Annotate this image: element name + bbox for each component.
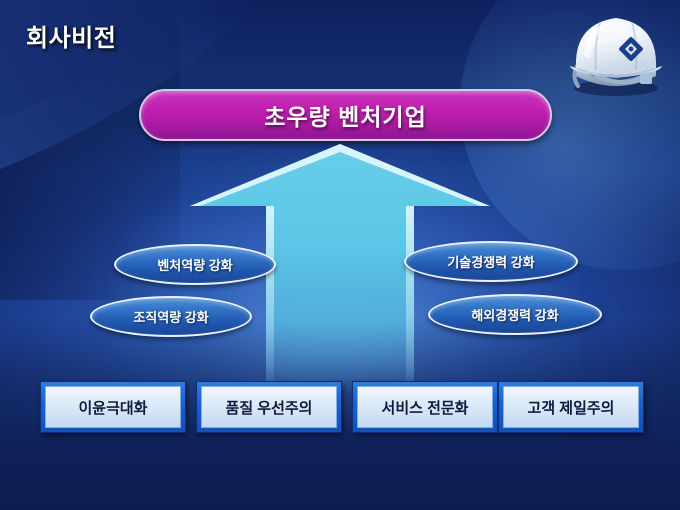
vision-banner-label: 초우량 벤처기업 bbox=[264, 98, 427, 132]
vision-banner[interactable]: 초우량 벤처기업 bbox=[139, 89, 552, 141]
pillar-ellipse-overseas-competitiveness[interactable]: 해외경쟁력 강화 bbox=[428, 294, 602, 335]
foundation-box-profit-maximization[interactable]: 이윤극대화 bbox=[40, 381, 186, 433]
pillar-ellipse-venture-capability[interactable]: 벤처역량 강화 bbox=[114, 244, 276, 285]
foundation-box-panel: 고객 제일주의 bbox=[503, 386, 639, 428]
pillar-label: 기술경쟁력 강화 bbox=[447, 252, 534, 271]
foundation-label: 품질 우선주의 bbox=[226, 397, 313, 418]
slide-canvas: 회사비전 bbox=[0, 0, 680, 510]
foundation-box-panel: 품질 우선주의 bbox=[201, 386, 337, 428]
foundation-label: 이윤극대화 bbox=[78, 397, 147, 418]
pillar-label: 해외경쟁력 강화 bbox=[471, 305, 558, 324]
foundation-label: 고객 제일주의 bbox=[528, 397, 615, 418]
safety-helmet-icon bbox=[560, 4, 672, 100]
pillar-label: 벤처역량 강화 bbox=[157, 255, 232, 274]
foundation-label: 서비스 전문화 bbox=[382, 397, 469, 418]
foundation-box-panel: 이윤극대화 bbox=[45, 386, 181, 428]
foundation-box-quality-first[interactable]: 품질 우선주의 bbox=[196, 381, 342, 433]
pillar-label: 조직역량 강화 bbox=[133, 307, 208, 326]
pillar-ellipse-organizational-capability[interactable]: 조직역량 강화 bbox=[90, 296, 252, 337]
foundation-box-panel: 서비스 전문화 bbox=[357, 386, 493, 428]
foundation-box-service-specialization[interactable]: 서비스 전문화 bbox=[352, 381, 498, 433]
pillar-ellipse-tech-competitiveness[interactable]: 기술경쟁력 강화 bbox=[404, 241, 578, 282]
foundation-box-customer-first[interactable]: 고객 제일주의 bbox=[498, 381, 644, 433]
page-title: 회사비전 bbox=[26, 18, 116, 53]
